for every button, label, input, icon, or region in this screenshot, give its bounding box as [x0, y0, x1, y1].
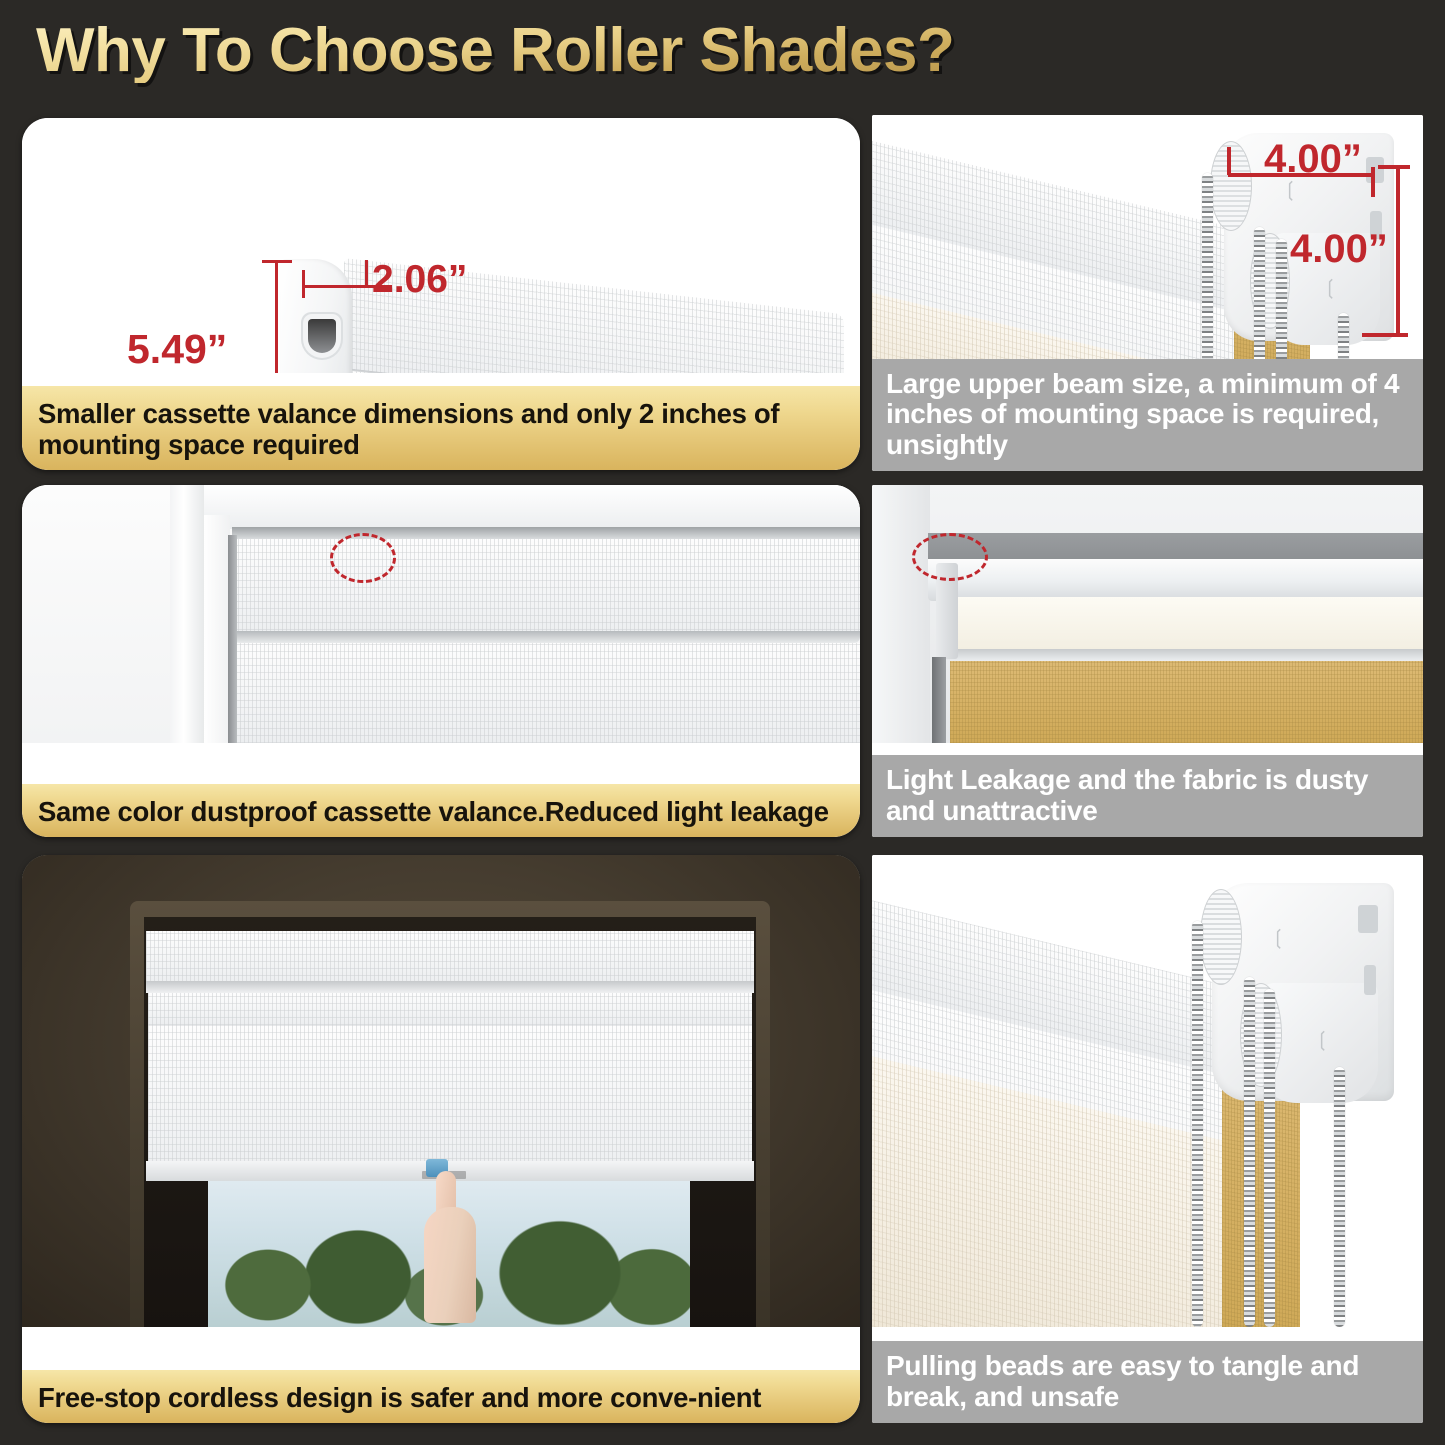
bracket-notch-icon	[1358, 905, 1378, 933]
panel-cordless-design: Free-stop cordless design is safer and m…	[22, 855, 860, 1423]
bead-chain[interactable]	[1334, 1067, 1345, 1327]
bead-chain[interactable]	[1244, 977, 1255, 1327]
hand-palm	[424, 1207, 476, 1323]
panel-pulling-beads: ❲ ❲ Pulling beads are easy to tangle and…	[872, 855, 1423, 1423]
wall-left	[872, 485, 930, 743]
panel-dustproof-valance: smaller gap Same color dustproof cassett…	[22, 485, 860, 837]
bead-chain[interactable]	[1202, 173, 1213, 376]
bead-chain[interactable]	[1264, 989, 1275, 1327]
window-trim-left	[170, 485, 204, 743]
head-rail	[232, 527, 860, 539]
dimension-label-width: 2.06”	[372, 258, 467, 302]
dimension-tick-left	[1227, 147, 1231, 175]
dimension-line-vertical	[1396, 165, 1400, 337]
window-trim-top	[170, 485, 860, 529]
panel-1-photo: 5.49” 2.06”	[22, 118, 860, 373]
bracket-emboss-icon: ❲	[1270, 925, 1287, 950]
cassette-valance	[234, 539, 860, 637]
panel-3-photo: smaller gap	[22, 485, 860, 743]
fabric-shadow	[946, 649, 1423, 661]
panel-large-upper-beam: ❲ ❲ 4.00” 4.00” Large upper beam size, a…	[872, 115, 1423, 471]
valance-lower	[148, 993, 752, 1025]
dimension-tick-left	[302, 270, 305, 298]
fabric-roll-cream	[946, 597, 1423, 649]
dimension-label-height: 4.00”	[1290, 227, 1388, 272]
panel-5-photo	[22, 855, 860, 1327]
panel-5-caption: Free-stop cordless design is safer and m…	[22, 1370, 860, 1423]
side-gap	[228, 535, 237, 743]
roller-tube	[928, 559, 1423, 601]
page-title: Why To Choose Roller Shades?	[36, 18, 954, 83]
panel-1-caption: Smaller cassette valance dimensions and …	[22, 386, 860, 470]
panel-smaller-cassette: 5.49” 2.06” Smaller cassette valance dim…	[22, 118, 860, 470]
panel-2-photo: ❲ ❲ 4.00” 4.00”	[872, 115, 1423, 376]
chain-pulley	[1200, 889, 1242, 985]
panel-4-photo: Large gap	[872, 485, 1423, 743]
panel-light-leakage: Large gap Light Leakage and the fabric i…	[872, 485, 1423, 837]
highlight-circle-icon	[330, 533, 396, 583]
dimension-tick-right	[365, 260, 368, 288]
window-jamb-left	[204, 515, 230, 743]
shadow-band	[928, 533, 1423, 561]
dimension-tick-top	[1378, 165, 1410, 169]
dimension-label-width: 4.00”	[1264, 137, 1362, 182]
bracket-notch-icon	[1364, 965, 1376, 995]
bead-chain[interactable]	[1276, 239, 1287, 376]
panel-4-caption: Light Leakage and the fabric is dusty an…	[872, 755, 1423, 837]
side-gap	[932, 657, 946, 743]
hand	[420, 1171, 478, 1327]
bracket-emboss-icon: ❲	[1314, 1027, 1331, 1052]
bracket-emboss-icon: ❲	[1322, 275, 1339, 300]
bracket-notch-icon	[1366, 157, 1384, 183]
valance-lip	[234, 631, 860, 643]
dimension-tick-top	[262, 260, 292, 263]
panel-3-caption: Same color dustproof cassette valance.Re…	[22, 784, 860, 837]
cassette-valance	[146, 931, 754, 983]
valance-chain-slot-icon	[308, 319, 336, 353]
highlight-circle-icon	[912, 533, 988, 581]
dimension-tick-bottom	[1362, 333, 1408, 337]
infographic-page: Why To Choose Roller Shades? Why To Choo…	[0, 0, 1445, 1445]
valance-end-cap	[280, 259, 352, 373]
dimension-label-height: 5.49”	[127, 326, 227, 373]
dimension-line-vertical	[275, 260, 278, 373]
valance-lip	[146, 981, 754, 993]
dimension-tick-right	[1371, 167, 1375, 197]
shade-fabric-tan	[950, 661, 1423, 743]
bead-chain[interactable]	[1192, 921, 1203, 1327]
panel-2-caption: Large upper beam size, a minimum of 4 in…	[872, 359, 1423, 471]
shade-fabric	[148, 1025, 752, 1173]
bead-chain[interactable]	[1254, 227, 1265, 376]
panel-6-photo: ❲ ❲	[872, 855, 1423, 1327]
panel-6-caption: Pulling beads are easy to tangle and bre…	[872, 1341, 1423, 1423]
chain-pulley	[1210, 141, 1252, 231]
shade-fabric	[236, 643, 860, 743]
